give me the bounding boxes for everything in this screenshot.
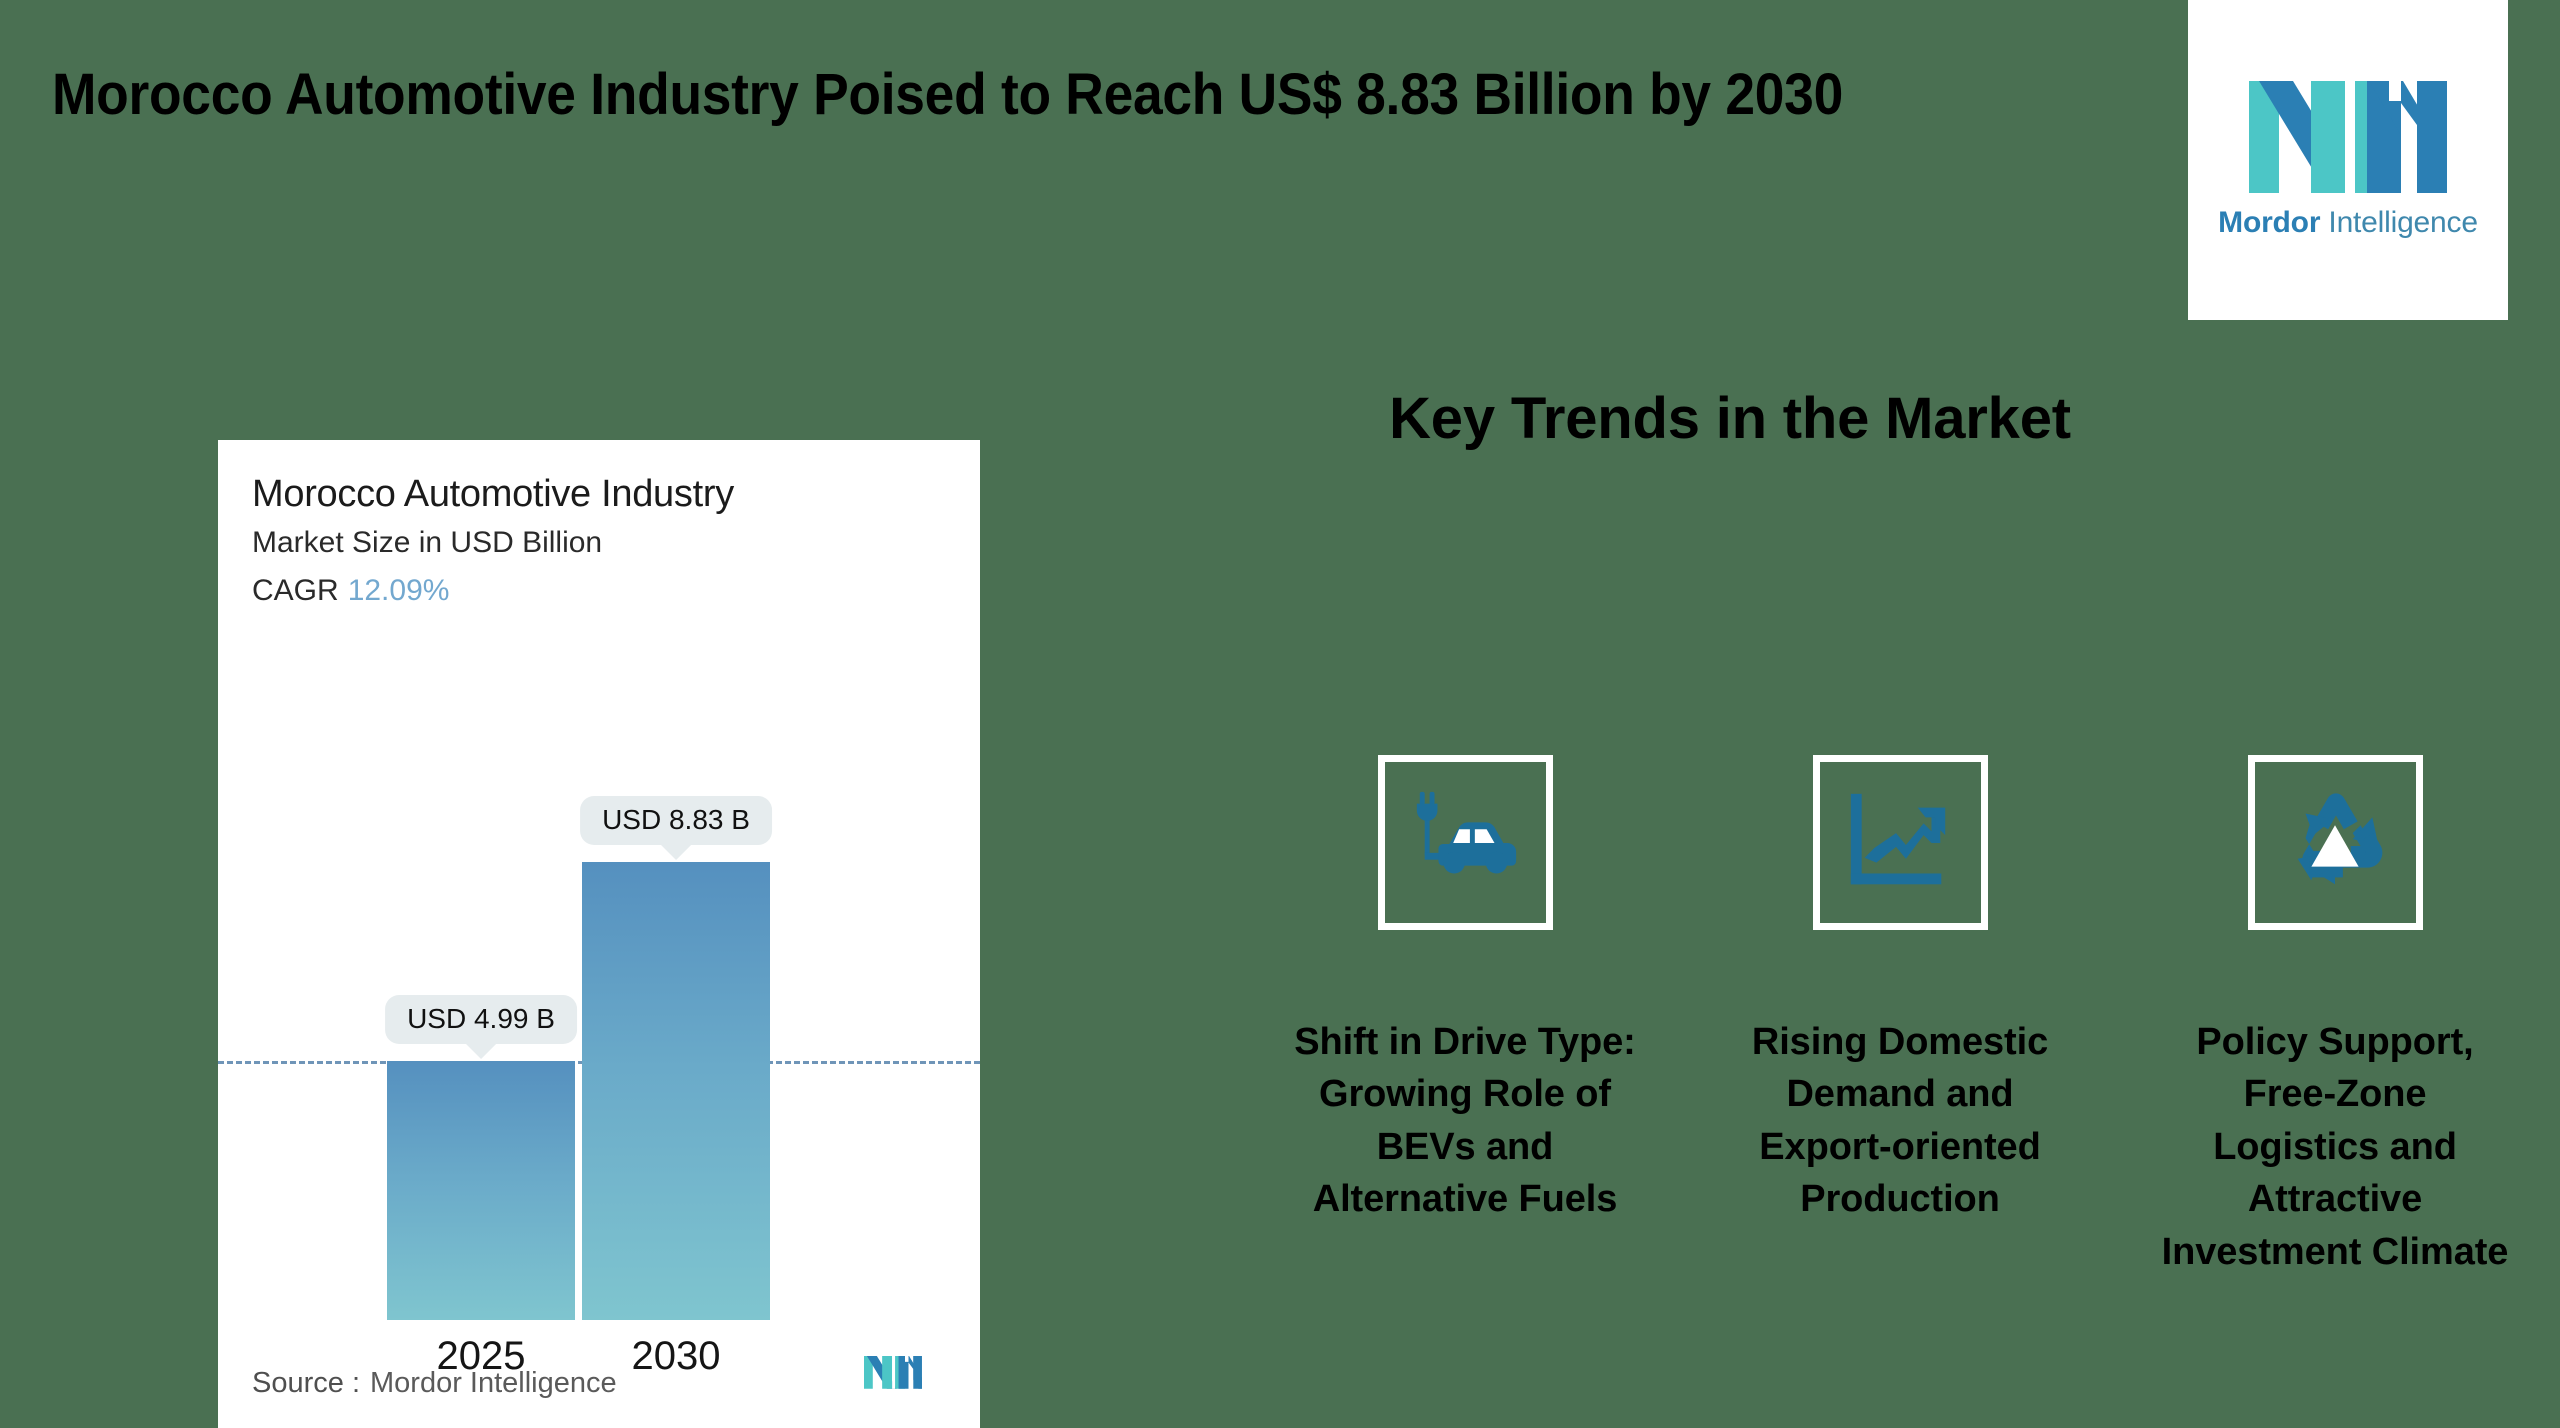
key-trends-heading: Key Trends in the Market	[1324, 385, 2136, 452]
trend-item-domestic-demand: Rising Domestic Demand and Export-orient…	[1700, 755, 2100, 1226]
bar-category-label: 2030	[632, 1334, 721, 1379]
brand-logo-card: Mordor Intelligence	[2188, 0, 2508, 320]
key-trends-row: Shift in Drive Type: Growing Role of BEV…	[1265, 755, 2535, 1278]
trend-item-drive-type: Shift in Drive Type: Growing Role of BEV…	[1265, 755, 1665, 1226]
bar-fill	[387, 1061, 575, 1320]
brand-word-intelligence: Intelligence	[2320, 206, 2478, 239]
brand-word-mordor: Mordor	[2218, 206, 2320, 239]
trend-icon-frame	[2248, 755, 2423, 930]
chart-source: Source :Mordor Intelligence	[252, 1367, 617, 1400]
trend-icon-frame	[1378, 755, 1553, 930]
brand-wordmark: Mordor Intelligence	[2218, 206, 2478, 240]
growth-chart-icon	[1841, 784, 1959, 902]
mordor-mn-logo-icon	[2249, 81, 2447, 193]
chart-source-label: Source :	[252, 1367, 360, 1399]
electric-car-icon	[1406, 784, 1524, 902]
bar-2030[interactable]: USD 8.83 B2030	[582, 862, 770, 1320]
bar-2025[interactable]: USD 4.99 B2025	[387, 1061, 575, 1320]
trend-item-policy-support: Policy Support, Free-Zone Logistics and …	[2135, 755, 2535, 1278]
bar-value-tooltip: USD 8.83 B	[580, 796, 772, 845]
mordor-mn-logo-icon	[864, 1356, 922, 1398]
bar-chart-plot-area: USD 4.99 B2025USD 8.83 B2030	[218, 440, 980, 1428]
bar-value-tooltip: USD 4.99 B	[385, 995, 577, 1044]
bar-fill	[582, 862, 770, 1320]
trend-caption: Policy Support, Free-Zone Logistics and …	[2160, 1016, 2510, 1278]
chart-source-value: Mordor Intelligence	[370, 1367, 617, 1399]
trend-caption: Rising Domestic Demand and Export-orient…	[1725, 1016, 2075, 1226]
recycling-icon	[2276, 784, 2394, 902]
chart-card: Morocco Automotive Industry Market Size …	[218, 440, 980, 1428]
page-title: Morocco Automotive Industry Poised to Re…	[52, 62, 1947, 128]
trend-caption: Shift in Drive Type: Growing Role of BEV…	[1285, 1016, 1645, 1226]
trend-icon-frame	[1813, 755, 1988, 930]
